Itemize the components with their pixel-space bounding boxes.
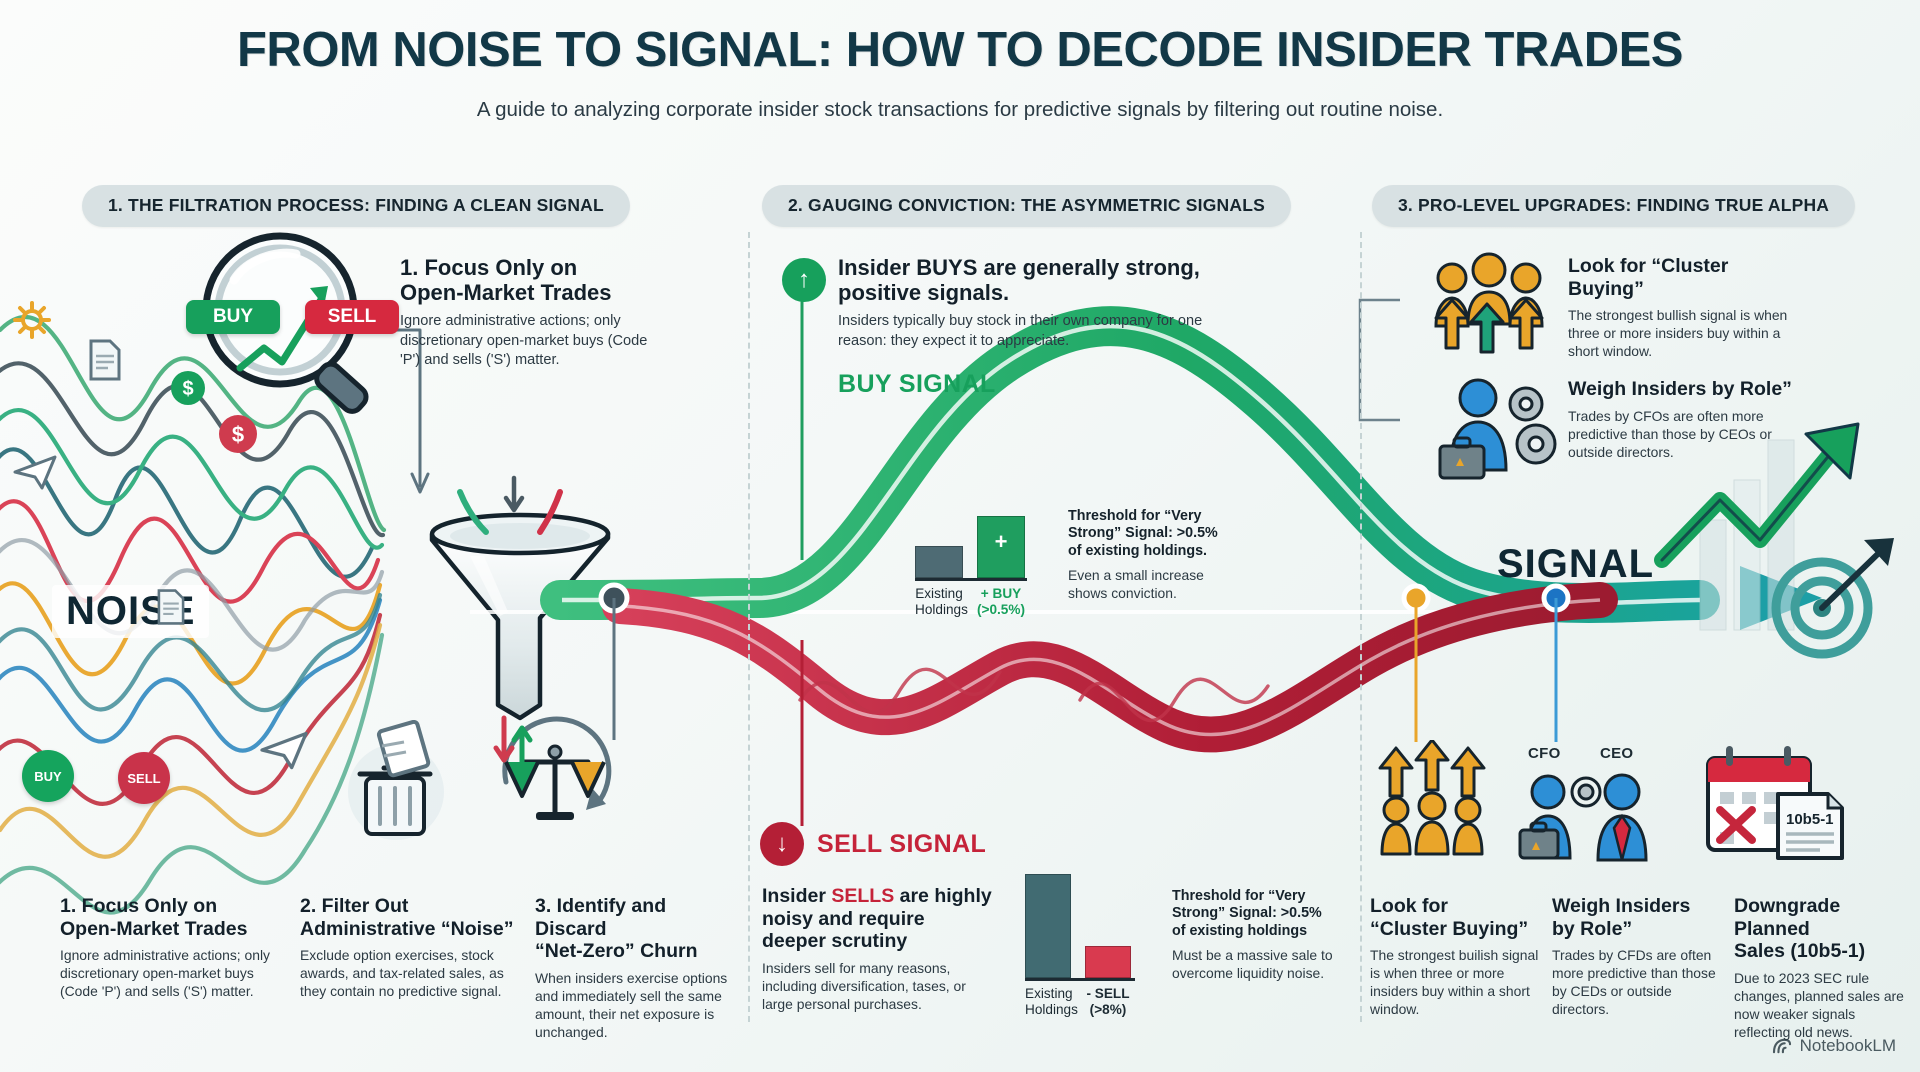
s2-sell-callout: Insider SELLS are highly noisy and requi… — [762, 885, 992, 1013]
s1-card-1-title-l1: 1. Focus Only on — [60, 895, 275, 918]
sell-arrow-icon: ↓ — [760, 822, 804, 866]
s3-card-2-title-l2: by Role” — [1552, 918, 1730, 941]
dollar-badge-icon-2: $ — [216, 412, 260, 456]
s3-card-1-body: The strongest builish signal is when thr… — [1370, 946, 1548, 1018]
section1-callout: 1. Focus Only on Open-Market Trades Igno… — [400, 255, 660, 371]
s2-buy-callout: Insider BUYS are generally strong, posit… — [838, 255, 1210, 351]
cfo-ceo-icon — [1518, 768, 1668, 868]
sell-signal-badge: ↓ SELL SIGNAL — [760, 822, 986, 866]
sell-threshold-text: Threshold for “Very Strong” Signal: >0.5… — [1172, 888, 1338, 982]
sell-chart-label-1: Existing Holdings — [1025, 986, 1071, 1018]
signal-label: SIGNAL — [1497, 542, 1654, 587]
noise-chip-sell-label: SELL — [127, 771, 160, 786]
section-header-2: 2. GAUGING CONVICTION: THE ASYMMETRIC SI… — [762, 185, 1291, 227]
gear-icon — [12, 300, 52, 340]
column-divider-1 — [748, 232, 750, 1022]
s3-card-1: Look for “Cluster Buying” The strongest … — [1370, 895, 1548, 1019]
s1-card-3-body: When insiders exercise options and immed… — [535, 969, 735, 1041]
s2-sell-title-l3: deeper scrutiny — [762, 930, 992, 953]
svg-text:$: $ — [182, 378, 193, 400]
buy-signal-badge: ↑ — [782, 258, 826, 302]
s3-callout-2-body: Trades by CFOs are often more predictive… — [1568, 407, 1798, 461]
s3-callout-1-title: Look for “Cluster Buying” — [1568, 255, 1803, 300]
doc-label-10b5-1: 10b5-1 — [1786, 811, 1834, 828]
buy-signal-text: BUY SIGNAL — [838, 370, 996, 399]
s3-card-1-title-l1: Look for — [1370, 895, 1548, 918]
s3-callout-1: Look for “Cluster Buying” The strongest … — [1568, 255, 1803, 360]
s3-card-2-body: Trades by CFDs are often more predictive… — [1552, 946, 1730, 1018]
s3-card-2: Weigh Insiders by Role” Trades by CFDs a… — [1552, 895, 1730, 1019]
sell-threshold-title: Threshold for “Very Strong” Signal: >0.5… — [1172, 888, 1338, 940]
churn-arrows-icon — [492, 708, 540, 778]
s2-buy-title-l1: Insider BUYS are generally strong, — [838, 255, 1210, 280]
sell-chart-label-2: - SELL (>8%) — [1085, 986, 1131, 1018]
planned-sales-calendar-icon: 10b5-1 — [1700, 742, 1850, 864]
s3-callout-2-title: Weigh Insiders by Role” — [1568, 378, 1798, 401]
s2-buy-body: Insiders typically buy stock in their ow… — [838, 312, 1210, 351]
s2-sell-title-l1: Insider SELLS are highly — [762, 885, 992, 908]
s2-sell-body: Insiders sell for many reasons, includin… — [762, 959, 992, 1013]
s1-card-3-title-l1: 3. Identify and Discard — [535, 895, 735, 940]
magnifier-buy-badge: BUY — [186, 300, 280, 334]
noise-chip-buy: BUY — [22, 750, 74, 802]
buy-threshold-chart: + Existing Holdings + BUY (>0.5%) — [915, 508, 1027, 618]
magnifier-sell-label: SELL — [328, 306, 377, 328]
page-title: FROM NOISE TO SIGNAL: HOW TO DECODE INSI… — [0, 22, 1920, 78]
s3-card-3-body: Due to 2023 SEC rule changes, planned sa… — [1734, 969, 1914, 1041]
buy-arrow-icon: ↑ — [782, 258, 826, 302]
dollar-badge-icon: $ — [168, 368, 208, 408]
s3-callout-2: Weigh Insiders by Role” Trades by CFOs a… — [1568, 378, 1798, 461]
notebooklm-logo-icon — [1772, 1038, 1792, 1054]
buy-chart-label-2: + BUY (>0.5%) — [977, 586, 1025, 618]
cluster-people-icon — [1370, 740, 1500, 858]
s2-buy-title-l2: positive signals. — [838, 280, 1210, 305]
document-icon-2 — [156, 588, 186, 626]
buy-chart-bar-buy: + — [977, 516, 1025, 578]
s1-card-3: 3. Identify and Discard “Net-Zero” Churn… — [535, 895, 735, 1041]
s3-card-3-title-l2: Sales (10b5-1) — [1734, 940, 1914, 963]
s1-card-3-title-l2: “Net-Zero” Churn — [535, 940, 735, 963]
s1-card-2-title-l1: 2. Filter Out — [300, 895, 515, 918]
insider-role-icon — [1432, 372, 1562, 487]
magnifier-sell-badge: SELL — [305, 300, 399, 334]
s3-callout-1-body: The strongest bullish signal is when thr… — [1568, 306, 1803, 360]
sell-threshold-chart: Existing Holdings - SELL (>8%) — [1025, 870, 1135, 1018]
buy-threshold-title: Threshold for “Very Strong” Signal: >0.5… — [1068, 508, 1228, 560]
section-header-1: 1. THE FILTRATION PROCESS: FINDING A CLE… — [82, 185, 630, 227]
noise-chip-sell: SELL — [118, 752, 170, 804]
s1-callout-title-line1: 1. Focus Only on — [400, 255, 660, 280]
paper-plane-icon-2 — [258, 728, 310, 772]
s2-sell-title-l2: noisy and require — [762, 908, 992, 931]
buy-threshold-body: Even a small increase shows conviction. — [1068, 566, 1228, 602]
paper-plane-icon — [12, 452, 58, 492]
s1-card-2-title-l2: Administrative “Noise” — [300, 918, 515, 941]
sell-chart-bar-existing — [1025, 874, 1071, 978]
s1-card-2: 2. Filter Out Administrative “Noise” Exc… — [300, 895, 515, 1000]
svg-text:$: $ — [232, 422, 244, 447]
s1-card-1-title-l2: Open-Market Trades — [60, 918, 275, 941]
s3-card-3: Downgrade Planned Sales (10b5-1) Due to … — [1734, 895, 1914, 1041]
document-icon — [88, 338, 122, 382]
s3-card-1-title-l2: “Cluster Buying” — [1370, 918, 1548, 941]
infographic-canvas: FROM NOISE TO SIGNAL: HOW TO DECODE INSI… — [0, 0, 1920, 1072]
s1-card-2-body: Exclude option exercises, stock awards, … — [300, 946, 515, 1000]
s3-card-3-title-l1: Downgrade Planned — [1734, 895, 1914, 940]
buy-chart-label-1: Existing Holdings — [915, 586, 963, 618]
page-subtitle: A guide to analyzing corporate insider s… — [0, 98, 1920, 122]
column-divider-2 — [1360, 232, 1362, 1022]
magnifier-buy-label: BUY — [213, 306, 253, 328]
ceo-label: CEO — [1600, 745, 1633, 762]
section-header-3: 3. PRO-LEVEL UPGRADES: FINDING TRUE ALPH… — [1372, 185, 1855, 227]
cfo-label: CFO — [1528, 745, 1561, 762]
cluster-buying-icon — [1424, 248, 1554, 358]
watermark-label: NotebookLM — [1800, 1036, 1896, 1056]
buy-threshold-text: Threshold for “Very Strong” Signal: >0.5… — [1068, 508, 1228, 602]
s1-callout-title-line2: Open-Market Trades — [400, 280, 660, 305]
discard-noise-icon — [330, 720, 460, 850]
sell-signal-text: SELL SIGNAL — [817, 830, 986, 859]
sell-threshold-body: Must be a massive sale to overcome liqui… — [1172, 946, 1338, 982]
sell-chart-bar-sell — [1085, 946, 1131, 978]
plus-icon: + — [995, 531, 1008, 553]
s3-card-2-title-l1: Weigh Insiders — [1552, 895, 1730, 918]
notebooklm-watermark: NotebookLM — [1772, 1036, 1896, 1056]
s1-callout-body: Ignore administrative actions; only disc… — [400, 312, 660, 371]
s1-card-1-body: Ignore administrative actions; only disc… — [60, 946, 275, 1000]
noise-chip-buy-label: BUY — [34, 769, 61, 784]
buy-chart-bar-existing — [915, 546, 963, 578]
s1-card-1: 1. Focus Only on Open-Market Trades Igno… — [60, 895, 275, 1000]
